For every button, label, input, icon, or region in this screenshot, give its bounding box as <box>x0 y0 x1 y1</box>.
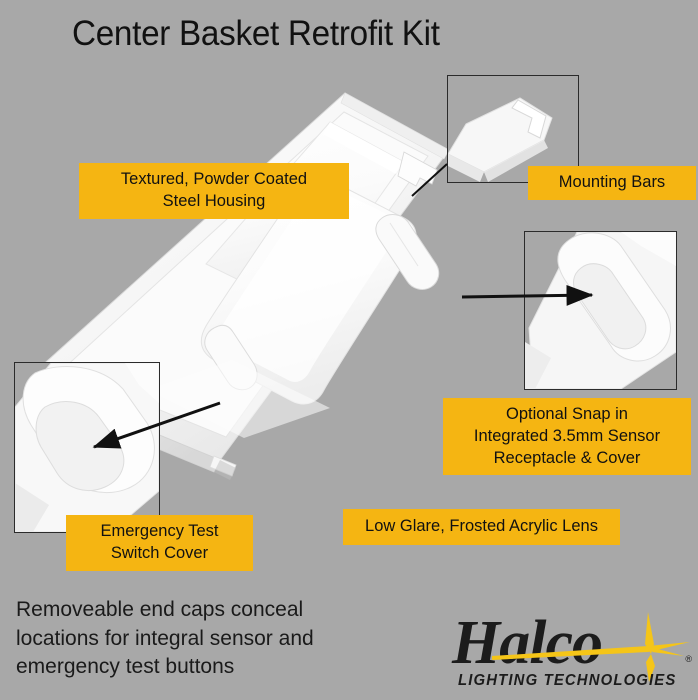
emergency-switch-detail-graphic <box>15 363 159 532</box>
callout-emergency-line1: Emergency Test <box>76 521 243 543</box>
inset-emergency-switch-detail <box>14 362 160 533</box>
sensor-receptacle-detail-graphic <box>525 232 676 389</box>
callout-emergency-line2: Switch Cover <box>76 543 243 565</box>
bottom-description-line2: locations for integral sensor and <box>16 625 416 654</box>
callout-emergency-test: Emergency Test Switch Cover <box>66 515 253 571</box>
bottom-description-line1: Removeable end caps conceal <box>16 596 416 625</box>
trademark-symbol: ® <box>685 654 692 664</box>
inset-sensor-receptacle-detail <box>524 231 677 390</box>
halco-logo: Halco LIGHTING TECHNOLOGIES ® <box>452 612 690 694</box>
callout-steel-housing-line1: Textured, Powder Coated <box>89 169 339 191</box>
callout-sensor-line3: Receptacle & Cover <box>453 448 681 470</box>
callout-steel-housing: Textured, Powder Coated Steel Housing <box>79 163 349 219</box>
halco-tagline: LIGHTING TECHNOLOGIES <box>458 672 679 690</box>
callout-sensor-line2: Integrated 3.5mm Sensor <box>453 426 681 448</box>
callout-sensor-receptacle: Optional Snap in Integrated 3.5mm Sensor… <box>443 398 691 475</box>
product-spec-sheet: Center Basket Retrofit Kit <box>0 0 698 700</box>
page-title: Center Basket Retrofit Kit <box>72 14 440 54</box>
callout-mounting-bars-line1: Mounting Bars <box>538 172 686 194</box>
bottom-description-line3: emergency test buttons <box>16 653 416 682</box>
callout-sensor-line1: Optional Snap in <box>453 404 681 426</box>
bottom-description: Removeable end caps conceal locations fo… <box>16 596 416 682</box>
callout-acrylic-lens-line1: Low Glare, Frosted Acrylic Lens <box>353 516 610 538</box>
callout-steel-housing-line2: Steel Housing <box>89 191 339 213</box>
callout-acrylic-lens: Low Glare, Frosted Acrylic Lens <box>343 509 620 545</box>
callout-mounting-bars: Mounting Bars <box>528 166 696 200</box>
